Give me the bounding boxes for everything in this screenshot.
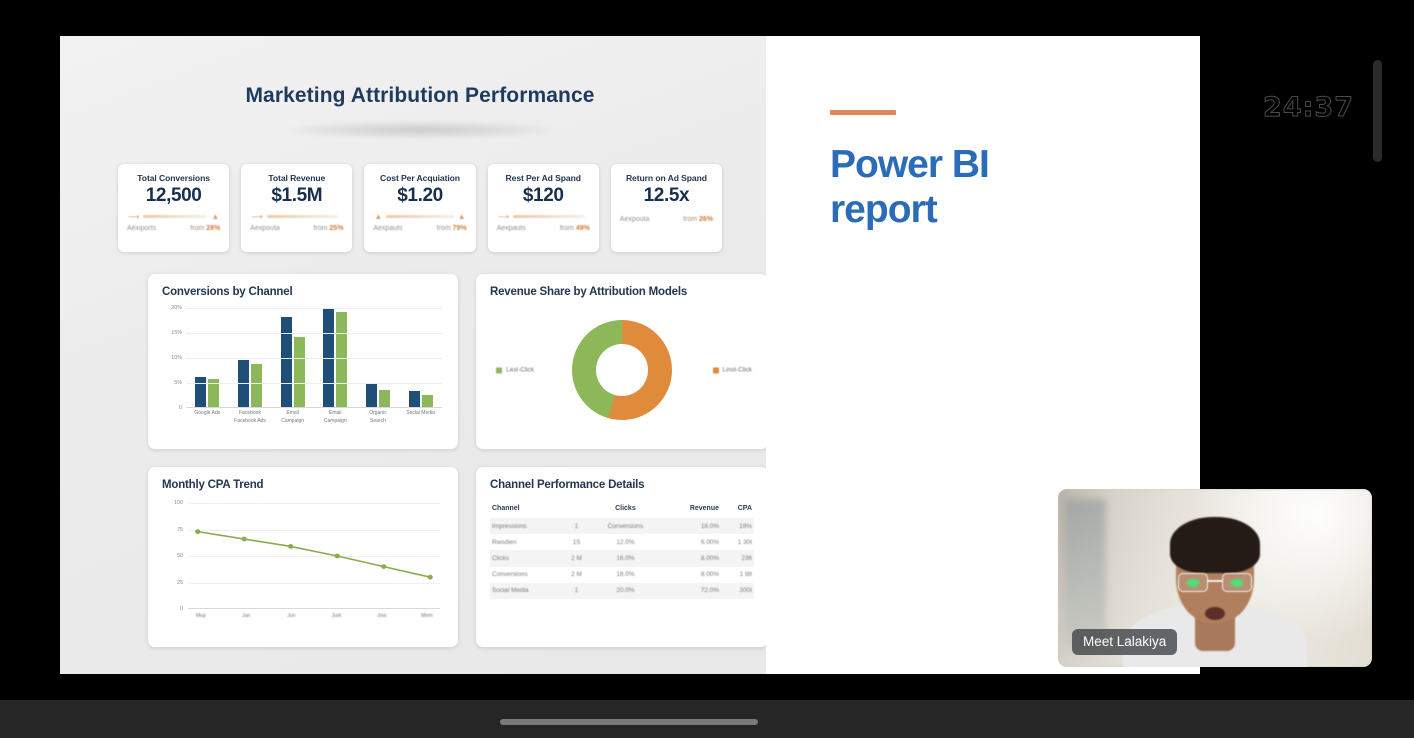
horizontal-scrollbar[interactable] bbox=[500, 719, 758, 725]
kpi-label: Cost Per Acquiation bbox=[380, 173, 460, 183]
y-axis-tick: 75 bbox=[177, 527, 183, 533]
kpi-label: Total Conversions bbox=[137, 173, 210, 183]
eye-glint bbox=[1231, 579, 1244, 587]
table-cell: 300t bbox=[721, 583, 754, 599]
eye-glint bbox=[1187, 579, 1200, 587]
kpi-value: 12.5x bbox=[644, 185, 690, 207]
kpi-label: Return on Ad Spand bbox=[626, 173, 707, 183]
table-header-row: ChannelClicksRevenueCPA bbox=[490, 501, 754, 518]
arrow-right-icon: ⟶ bbox=[251, 212, 262, 221]
slide-title: Marketing Attribution Performance bbox=[104, 84, 736, 108]
y-axis-tick: 20% bbox=[171, 305, 182, 311]
table-column-header: Revenue bbox=[661, 501, 721, 518]
table-cell: Clicks bbox=[490, 550, 563, 566]
kpi-trend-row: ⟶ bbox=[498, 212, 589, 221]
participant-glasses bbox=[1178, 573, 1252, 593]
legend-label: Last-Click bbox=[506, 367, 534, 374]
table-cell: 1 30t bbox=[721, 534, 754, 550]
kpi-sub-left: Aexpauts bbox=[373, 225, 402, 232]
kpi-sub-left: Aexpouta bbox=[250, 225, 280, 232]
bar-chart-x-labels: Google AdsFacebook Facebook AdsEmail Cam… bbox=[186, 410, 442, 425]
x-axis-label: Jow bbox=[369, 613, 395, 619]
panel-monthly-cpa-trend: Monthly CPA Trend 1007550250 MupJanJunJu… bbox=[148, 467, 458, 647]
kpi-label: Rest Per Ad Spand bbox=[506, 173, 581, 183]
shared-content-stage: Marketing Attribution Performance Total … bbox=[0, 0, 1414, 700]
kpi-sub-row: Aexpouta from 25% bbox=[250, 225, 343, 232]
table-cell: 236 bbox=[721, 550, 754, 566]
caret-up-icon: ▲ bbox=[374, 212, 382, 221]
grid-line bbox=[186, 383, 442, 384]
vertical-scrollbar[interactable] bbox=[1373, 60, 1382, 162]
y-axis-tick: 25 bbox=[177, 580, 183, 586]
table-cell: 20.0% bbox=[590, 583, 661, 599]
kpi-trend-row: ⟶ ▲ bbox=[128, 212, 219, 221]
line-chart: 1007550250 MupJanJunJurkJowMem bbox=[162, 503, 444, 631]
line-chart-x-labels: MupJanJunJurkJowMem bbox=[188, 613, 440, 619]
table-cell: 16.0% bbox=[590, 550, 661, 566]
y-axis-tick: 15% bbox=[171, 330, 182, 336]
grid-line bbox=[186, 333, 442, 334]
kpi-card: Total Revenue $1.5M ⟶ Aexpouta from 25% bbox=[241, 164, 352, 252]
y-axis-tick: 50 bbox=[177, 553, 183, 559]
table-cell: 72.0% bbox=[661, 583, 721, 599]
bar-group bbox=[366, 384, 390, 407]
screen-share-window: Marketing Attribution Performance Total … bbox=[0, 0, 1414, 738]
bar bbox=[366, 384, 377, 407]
x-axis-label: Email Campaign bbox=[276, 410, 310, 425]
video-background-panel bbox=[1064, 499, 1106, 649]
table-cell: 1S bbox=[563, 534, 589, 550]
kpi-sub-left: Aexiports bbox=[127, 225, 156, 232]
table-column-header bbox=[563, 501, 589, 518]
grid-line bbox=[186, 358, 442, 359]
arrow-right-icon: ⟶ bbox=[498, 212, 509, 221]
panel-revenue-share: Revenue Share by Attribution Models Last… bbox=[476, 274, 768, 449]
kpi-sub-right: from 79% bbox=[437, 225, 467, 232]
glasses-bridge bbox=[1208, 580, 1222, 582]
panel-title: Monthly CPA Trend bbox=[162, 479, 444, 491]
bar-group bbox=[195, 377, 219, 407]
x-axis-label: Jun bbox=[278, 613, 304, 619]
participant-video-tile[interactable]: Meet Lalakiya bbox=[1058, 489, 1372, 667]
panel-channel-performance: Channel Performance Details ChannelClick… bbox=[476, 467, 768, 647]
table-cell: 8.00% bbox=[661, 567, 721, 583]
legend-swatch-icon bbox=[496, 367, 502, 373]
bar bbox=[281, 317, 292, 407]
bar-group bbox=[281, 317, 305, 407]
slide-left-dashboard: Marketing Attribution Performance Total … bbox=[60, 36, 766, 674]
table-column-header: CPA bbox=[721, 501, 754, 518]
x-axis-label: Email Campaign bbox=[318, 410, 352, 425]
table-cell: 19% bbox=[721, 518, 754, 534]
table-body: Impressions1Conversions18.0%19%Rwsdien1S… bbox=[490, 518, 754, 599]
panel-title: Conversions by Channel bbox=[162, 286, 444, 298]
glasses-lens-right bbox=[1222, 573, 1252, 592]
kpi-sub-left: Aexpouta bbox=[620, 216, 650, 223]
trend-bar bbox=[267, 215, 339, 218]
x-axis-label: Mem bbox=[414, 613, 440, 619]
table-cell: 12.0% bbox=[590, 534, 661, 550]
kpi-sub-row: Aexpauts from 49% bbox=[497, 225, 590, 232]
table-cell: 1 t8t bbox=[721, 567, 754, 583]
y-axis-tick: 0 bbox=[179, 405, 182, 411]
glasses-lens-left bbox=[1178, 573, 1208, 592]
kpi-sub-row: Aexpouta from 26% bbox=[620, 216, 713, 223]
legend-label: Linst-Click bbox=[723, 367, 752, 374]
power-bi-heading: Power BI report bbox=[830, 143, 1060, 233]
table-column-header: Clicks bbox=[590, 501, 661, 518]
table-cell: 1 bbox=[563, 518, 589, 534]
kpi-sub-left: Aexpauts bbox=[497, 225, 526, 232]
bar bbox=[294, 337, 305, 407]
participant-name-label: Meet Lalakiya bbox=[1072, 629, 1177, 655]
table-cell: 1 bbox=[563, 583, 589, 599]
bar-chart-plot bbox=[186, 308, 442, 408]
trend-bar bbox=[143, 215, 207, 218]
caret-up-icon: ▲ bbox=[211, 212, 219, 221]
dashboard-panel-grid: Conversions by Channel 20%15%10%5%0 Goog… bbox=[104, 274, 736, 647]
channel-performance-table: ChannelClicksRevenueCPA Impressions1Conv… bbox=[490, 501, 754, 599]
arrow-right-icon: ⟶ bbox=[128, 212, 139, 221]
table-column-header: Channel bbox=[490, 501, 563, 518]
kpi-sub-right: from 26% bbox=[683, 216, 713, 223]
bar-group bbox=[409, 391, 433, 407]
kpi-label: Total Revenue bbox=[268, 173, 325, 183]
panel-conversions-by-channel: Conversions by Channel 20%15%10%5%0 Goog… bbox=[148, 274, 458, 449]
kpi-card: Return on Ad Spand 12.5x Aexpouta from 2… bbox=[611, 164, 722, 252]
grid-line bbox=[186, 308, 442, 309]
kpi-sub-row: Aexiports from 28% bbox=[127, 225, 220, 232]
heading-line-2: report bbox=[830, 188, 937, 231]
kpi-sub-right: from 49% bbox=[560, 225, 590, 232]
table-row: Social Media120.0%72.0%300t bbox=[490, 583, 754, 599]
legend-swatch-icon bbox=[713, 367, 719, 373]
table-cell: Social Media bbox=[490, 583, 563, 599]
table-cell: 2 M bbox=[563, 550, 589, 566]
kpi-value: 12,500 bbox=[146, 185, 202, 207]
x-axis-label: Mup bbox=[188, 613, 214, 619]
x-axis-label: Organic Search bbox=[361, 410, 395, 425]
donut-chart: Last-Click Linst-Click bbox=[490, 306, 754, 434]
trend-bar bbox=[386, 215, 453, 218]
line-series-path bbox=[188, 503, 440, 609]
bar-chart: 20%15%10%5%0 Google AdsFacebook Facebook… bbox=[162, 308, 444, 428]
kpi-card: Cost Per Acquiation $1.20 ▲ ▲ Aexpauts f… bbox=[364, 164, 475, 252]
x-axis-label: Google Ads bbox=[190, 410, 224, 425]
kpi-trend-row: ▲ ▲ bbox=[374, 212, 465, 221]
title-underline-blur bbox=[289, 122, 551, 138]
accent-bar bbox=[830, 110, 896, 115]
table-cell: Conversions bbox=[590, 518, 661, 534]
trend-bar bbox=[513, 215, 585, 218]
legend-item-last-click: Last-Click bbox=[496, 367, 534, 374]
line-chart-plot bbox=[188, 503, 440, 609]
kpi-value: $1.20 bbox=[397, 185, 443, 207]
bar bbox=[251, 364, 262, 407]
kpi-sub-row: Aexpauts from 79% bbox=[373, 225, 466, 232]
participant-mouth bbox=[1205, 607, 1225, 620]
kpi-card: Total Conversions 12,500 ⟶ ▲ Aexiports f… bbox=[118, 164, 229, 252]
bar bbox=[422, 395, 433, 407]
bar bbox=[379, 390, 390, 407]
table-cell: 8.00% bbox=[661, 550, 721, 566]
kpi-card: Rest Per Ad Spand $120 ⟶ Aexpauts from 4… bbox=[488, 164, 599, 252]
x-axis-label: Jan bbox=[233, 613, 259, 619]
kpi-sub-right: from 28% bbox=[190, 225, 220, 232]
kpi-sub-right: from 25% bbox=[313, 225, 343, 232]
table-cell: Conversions bbox=[490, 567, 563, 583]
y-axis-tick: 10% bbox=[171, 355, 182, 361]
x-axis-label: Social Media bbox=[404, 410, 438, 425]
y-axis-tick: 0 bbox=[180, 606, 183, 612]
x-axis-label: Jurk bbox=[324, 613, 350, 619]
y-axis-tick: 100 bbox=[174, 500, 183, 506]
bar bbox=[409, 391, 420, 407]
participant-hair bbox=[1170, 517, 1260, 573]
bar-chart-y-axis: 20%15%10%5%0 bbox=[162, 308, 184, 408]
table-cell: 18.0% bbox=[590, 567, 661, 583]
table-row: Rwsdien1S12.0%6.00%1 30t bbox=[490, 534, 754, 550]
donut-ring bbox=[572, 320, 672, 420]
bar bbox=[336, 312, 347, 407]
session-timer: 24:37 bbox=[1263, 92, 1354, 123]
kpi-card-row: Total Conversions 12,500 ⟶ ▲ Aexiports f… bbox=[104, 164, 736, 252]
caret-up-icon: ▲ bbox=[458, 212, 466, 221]
panel-title: Channel Performance Details bbox=[490, 479, 754, 491]
heading-line-1: Power BI bbox=[830, 143, 989, 186]
kpi-value: $1.5M bbox=[271, 185, 322, 207]
table-cell: Rwsdien bbox=[490, 534, 563, 550]
kpi-value: $120 bbox=[523, 185, 564, 207]
bar bbox=[195, 377, 206, 407]
y-axis-tick: 5% bbox=[174, 380, 182, 386]
table-row: Conversions2 M18.0%8.00%1 t8t bbox=[490, 567, 754, 583]
table-row: Clicks2 M16.0%8.00%236 bbox=[490, 550, 754, 566]
presentation-slide: Marketing Attribution Performance Total … bbox=[60, 36, 1200, 674]
panel-title: Revenue Share by Attribution Models bbox=[490, 286, 754, 298]
legend-item-first-click: Linst-Click bbox=[713, 367, 752, 374]
table-cell: 2 M bbox=[563, 567, 589, 583]
line-chart-y-axis: 1007550250 bbox=[162, 503, 186, 609]
table-cell: Impressions bbox=[490, 518, 563, 534]
table-row: Impressions1Conversions18.0%19% bbox=[490, 518, 754, 534]
x-axis-label: Facebook Facebook Ads bbox=[233, 410, 267, 425]
table-cell: 6.00% bbox=[661, 534, 721, 550]
table-cell: 18.0% bbox=[661, 518, 721, 534]
kpi-trend-row: ⟶ bbox=[251, 212, 342, 221]
